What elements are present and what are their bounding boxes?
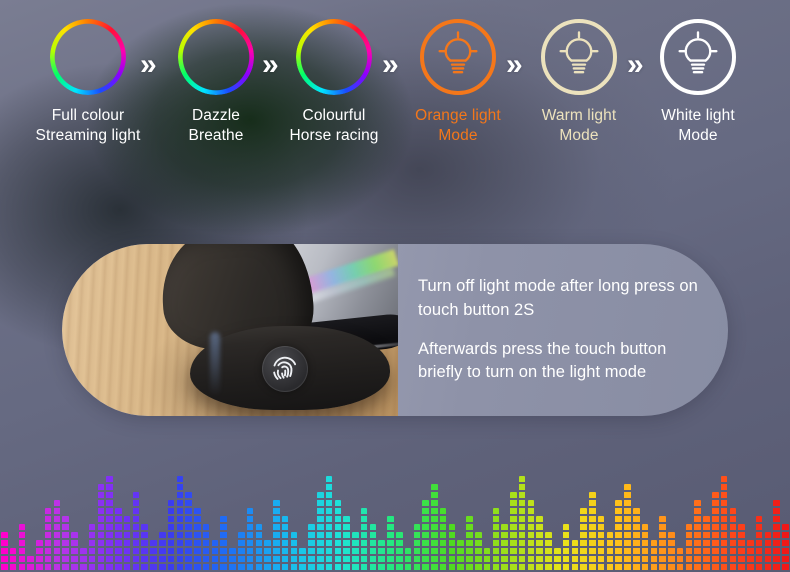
equalizer-bar [159, 532, 165, 572]
equalizer-bar [387, 516, 393, 572]
equalizer-bar [686, 524, 692, 572]
equalizer-bar [484, 548, 490, 572]
mode-label-line1: Orange light [415, 107, 501, 124]
mode-icon-glyph [545, 23, 613, 91]
audio-equalizer-visualizer [0, 460, 790, 572]
equalizer-bar [352, 532, 358, 572]
equalizer-bar [264, 540, 270, 572]
equalizer-bar [756, 516, 762, 572]
equalizer-bar [168, 500, 174, 572]
instruction-line-1: Turn off light mode after long press on … [418, 275, 706, 322]
equalizer-bar [563, 524, 569, 572]
chevron-right-icon: » [262, 50, 279, 80]
equalizer-bar [89, 524, 95, 572]
equalizer-bar [71, 532, 77, 572]
equalizer-bar [106, 476, 112, 572]
mode-label-line2: Mode [388, 126, 528, 146]
equalizer-bar [299, 548, 305, 572]
equalizer-bar [519, 476, 525, 572]
equalizer-bar [422, 500, 428, 572]
equalizer-bar [580, 508, 586, 572]
instruction-line-2: Afterwards press the touch button briefl… [418, 338, 706, 385]
equalizer-bar [317, 492, 323, 572]
equalizer-bar [115, 508, 121, 572]
equalizer-bar [396, 532, 402, 572]
chevron-right-icon: » [506, 50, 523, 80]
equalizer-bar [615, 500, 621, 572]
mode-icon-ring [541, 19, 617, 95]
equalizer-bar [554, 548, 560, 572]
mode-label: ColourfulHorse racing [264, 106, 404, 146]
equalizer-bar [536, 516, 542, 572]
equalizer-bar [501, 524, 507, 572]
mode-icon-wrapper [628, 8, 768, 106]
equalizer-bar [651, 540, 657, 572]
equalizer-bar [712, 492, 718, 572]
mode-icon-glyph [50, 19, 126, 95]
mode-icon-ring [660, 19, 736, 95]
mode-label: Orange lightMode [388, 106, 528, 146]
lightbulb-icon [664, 23, 732, 91]
equalizer-bar [194, 508, 200, 572]
mode-icon-glyph [178, 19, 254, 95]
fingerprint-touch-button[interactable] [262, 346, 308, 392]
equalizer-bar [572, 540, 578, 572]
equalizer-bar [370, 524, 376, 572]
equalizer-bar [659, 516, 665, 572]
equalizer-bar [598, 516, 604, 572]
equalizer-bar [773, 500, 779, 572]
rainbow-molecule-icon [178, 19, 254, 95]
mode-icon-wrapper [18, 8, 158, 106]
lightbulb-icon [545, 23, 613, 91]
rgb-lamp-device [154, 244, 398, 416]
lightbulb-icon [424, 23, 492, 91]
mode-label-line2: Horse racing [264, 126, 404, 146]
equalizer-bar [414, 524, 420, 572]
equalizer-bar [1, 532, 7, 572]
equalizer-bar [343, 516, 349, 572]
equalizer-bar [528, 500, 534, 572]
equalizer-bar [378, 540, 384, 572]
instruction-panel: Turn off light mode after long press on … [62, 244, 728, 416]
mode-label: Full colourStreaming light [18, 106, 158, 146]
equalizer-bar [150, 540, 156, 572]
equalizer-bar [765, 532, 771, 572]
equalizer-bar [405, 548, 411, 572]
equalizer-bar [440, 508, 446, 572]
mode-icon-glyph [424, 23, 492, 91]
equalizer-bar [335, 500, 341, 572]
equalizer-bar [747, 540, 753, 572]
equalizer-bar [457, 540, 463, 572]
equalizer-bar [273, 500, 279, 572]
equalizer-bar [36, 540, 42, 572]
mode-icon-glyph [664, 23, 732, 91]
equalizer-bar [730, 508, 736, 572]
mode-label-line1: Full colour [52, 107, 125, 124]
equalizer-bar [607, 532, 613, 572]
equalizer-bar [203, 524, 209, 572]
equalizer-bar [475, 532, 481, 572]
equalizer-bar [326, 476, 332, 572]
equalizer-bar [177, 476, 183, 572]
equalizer-bar [27, 556, 33, 572]
equalizer-bar [493, 508, 499, 572]
equalizer-bar [247, 508, 253, 572]
equalizer-bar [721, 476, 727, 572]
equalizer-bar [80, 548, 86, 572]
equalizer-bar [589, 492, 595, 572]
equalizer-bar [449, 524, 455, 572]
equalizer-bar [545, 532, 551, 572]
mode-icon-ring [420, 19, 496, 95]
equalizer-bar [133, 492, 139, 572]
equalizer-bar [10, 548, 16, 572]
equalizer-bar [185, 492, 191, 572]
equalizer-bar [62, 516, 68, 572]
chevron-right-icon: » [140, 50, 157, 80]
mode-item-full-colour-streaming-light[interactable]: Full colourStreaming light [18, 8, 158, 146]
fingerprint-icon [268, 352, 302, 386]
mode-label-line2: Mode [628, 126, 768, 146]
equalizer-bar [54, 500, 60, 572]
device-base [190, 326, 390, 410]
equalizer-bar [220, 516, 226, 572]
chevron-right-icon: » [627, 50, 644, 80]
equalizer-bar [633, 508, 639, 572]
mode-label-line1: Dazzle [192, 107, 240, 124]
equalizer-bar [361, 508, 367, 572]
equalizer-bar [703, 516, 709, 572]
rainbow-running-man-icon [296, 19, 372, 95]
equalizer-bar [510, 492, 516, 572]
equalizer-bar [738, 524, 744, 572]
light-mode-row: Full colourStreaming lightDazzleBreatheC… [0, 8, 790, 188]
equalizer-bar [291, 532, 297, 572]
equalizer-bar [256, 524, 262, 572]
mode-icon-ring [296, 19, 372, 95]
mode-label-line1: White light [661, 107, 734, 124]
equalizer-bar [212, 540, 218, 572]
mode-icon-ring [178, 19, 254, 95]
equalizer-bar [45, 508, 51, 572]
equalizer-bar [238, 532, 244, 572]
mode-item-white-light-mode[interactable]: White lightMode [628, 8, 768, 146]
base-gloss-highlight [210, 332, 220, 396]
equalizer-bar [141, 524, 147, 572]
equalizer-bar [668, 532, 674, 572]
equalizer-bar [282, 516, 288, 572]
infographic-canvas: Full colourStreaming lightDazzleBreatheC… [0, 0, 790, 572]
equalizer-bar [694, 500, 700, 572]
equalizer-bar [229, 548, 235, 572]
equalizer-bar [124, 516, 130, 572]
chevron-right-icon: » [382, 50, 399, 80]
mode-icon-glyph [296, 19, 372, 95]
mode-label: White lightMode [628, 106, 768, 146]
equalizer-bar [466, 516, 472, 572]
equalizer-bar [782, 524, 788, 572]
mode-label-line1: Warm light [542, 107, 617, 124]
mode-label-line1: Colourful [303, 107, 366, 124]
equalizer-bar [98, 484, 104, 572]
instruction-text-group: Turn off light mode after long press on … [398, 244, 728, 416]
equalizer-bar [308, 524, 314, 572]
equalizer-bar [431, 484, 437, 572]
mode-icon-ring [50, 19, 126, 95]
mode-label-line2: Streaming light [18, 126, 158, 146]
product-photo [62, 244, 398, 416]
equalizer-bar [624, 484, 630, 572]
equalizer-bar [19, 524, 25, 572]
rainbow-waves-icon [50, 19, 126, 95]
equalizer-bar [677, 548, 683, 572]
equalizer-bar [642, 524, 648, 572]
